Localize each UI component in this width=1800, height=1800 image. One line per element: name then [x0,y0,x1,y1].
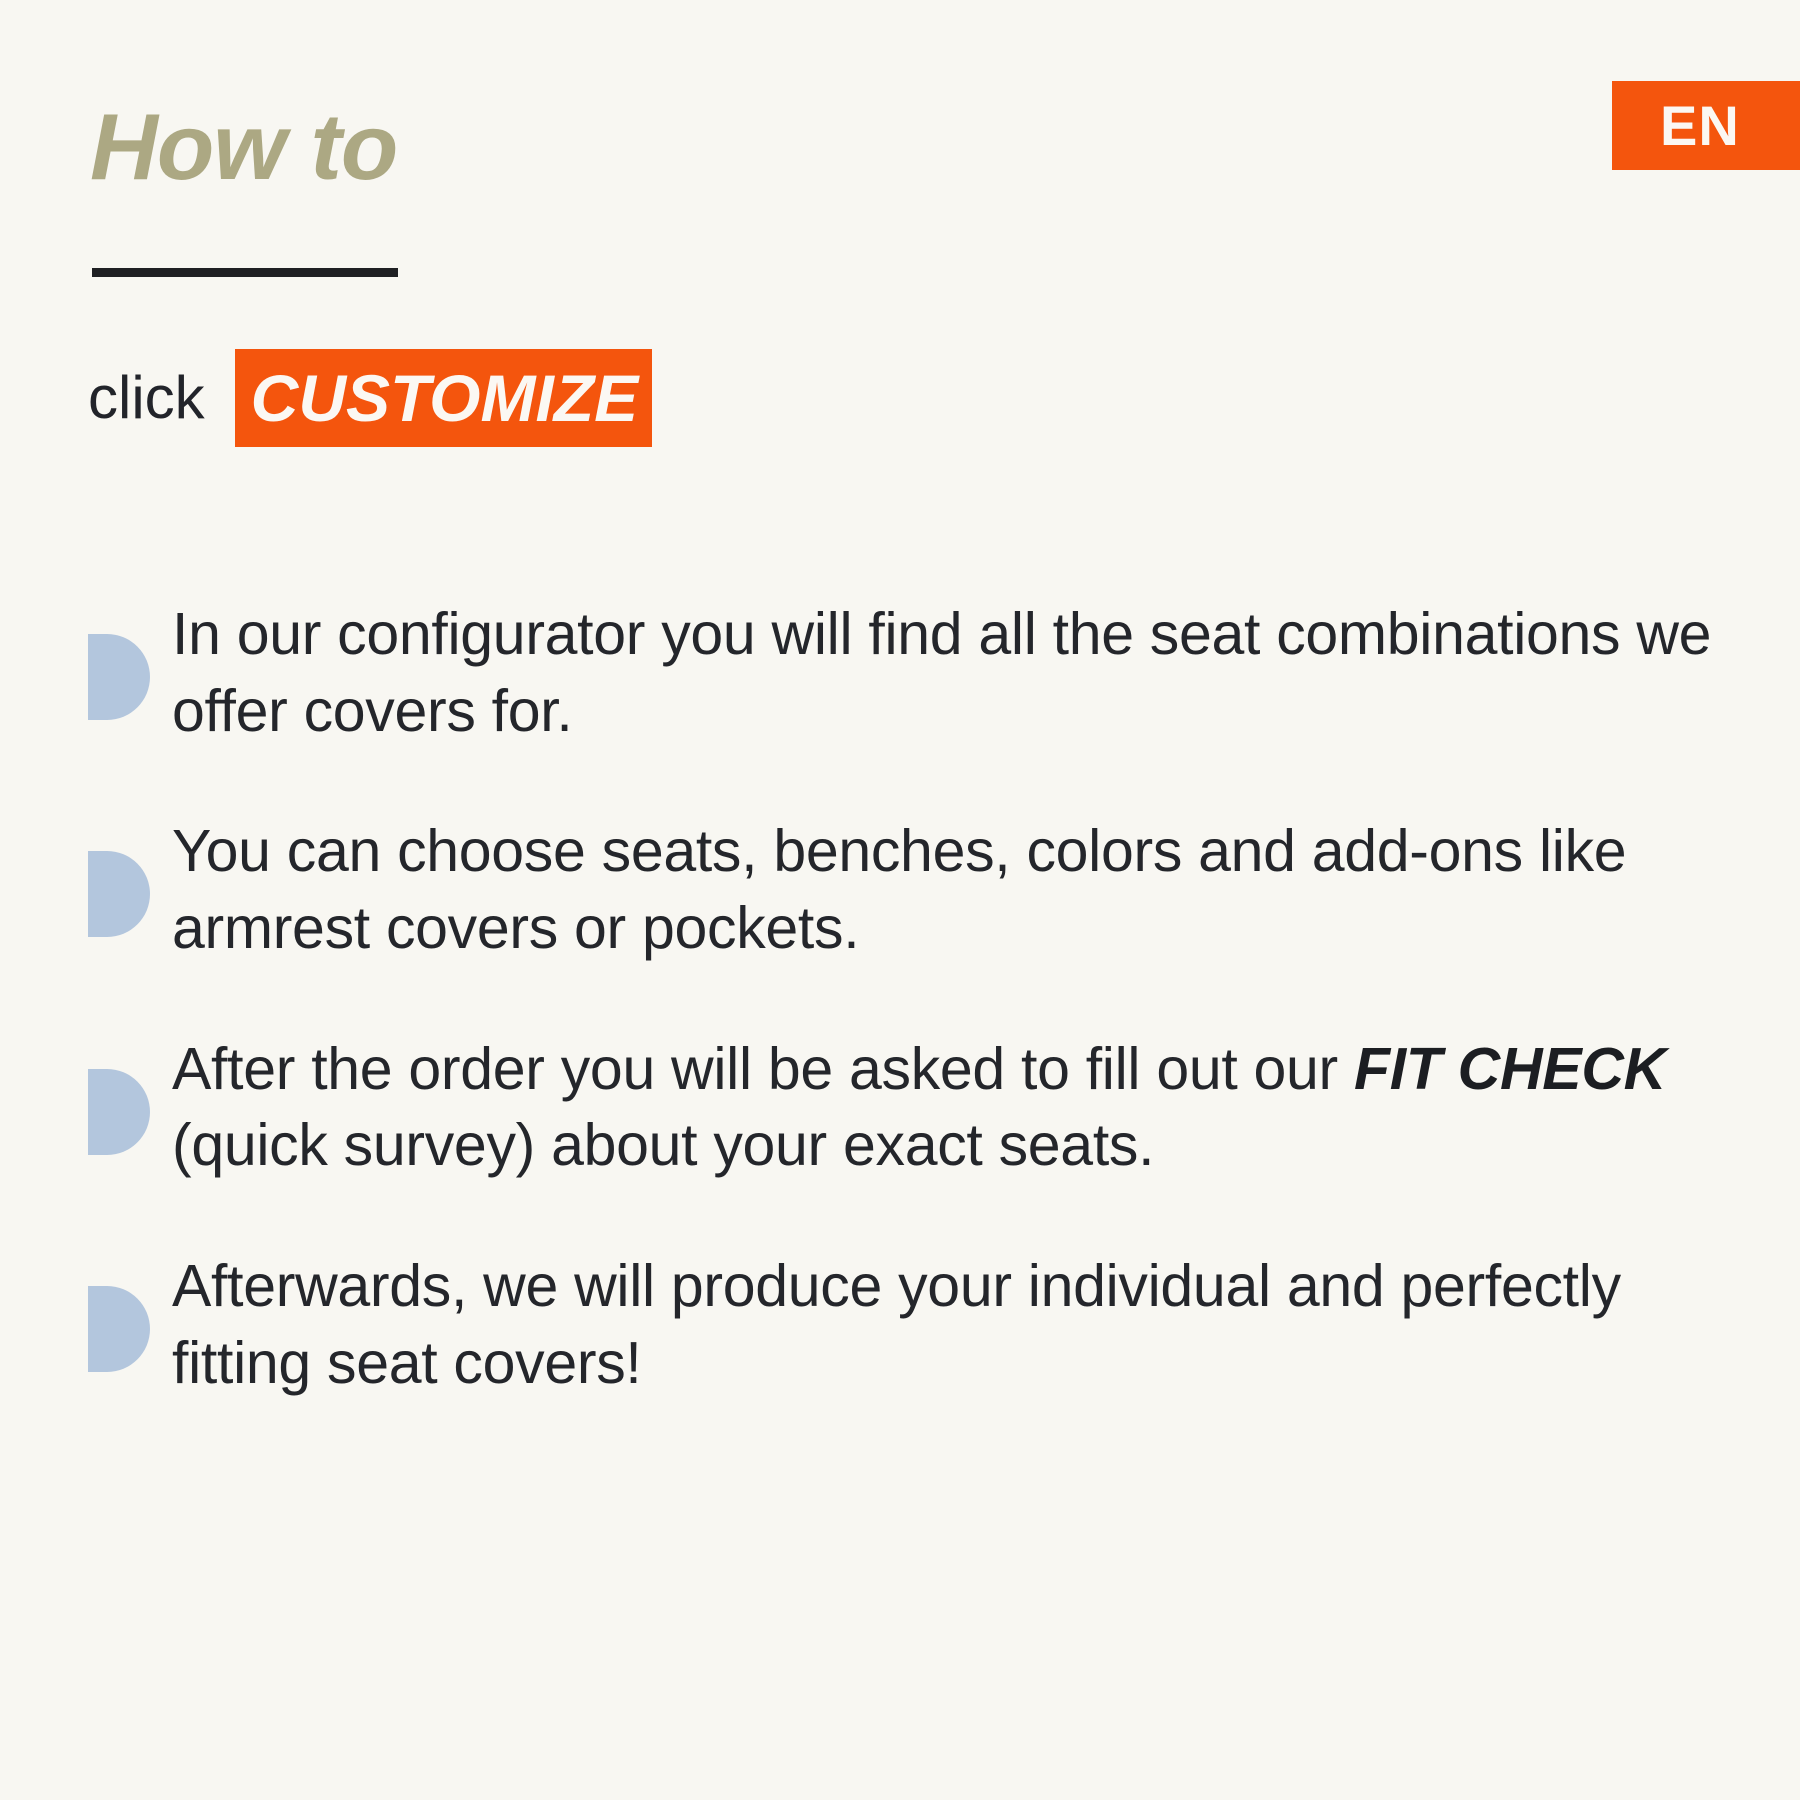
customize-button-highlight[interactable]: CUSTOMIZE [235,349,652,447]
cta-prefix-label: click [88,368,205,428]
list-item-text-before: After the order you will be asked to fil… [172,1036,1354,1102]
list-item-text-before: Afterwards, we will produce your individ… [172,1253,1621,1396]
page-title: How to [90,98,397,197]
list-item-text-before: In our configurator you will find all th… [172,601,1711,744]
half-round-bullet-icon [88,1069,150,1155]
language-badge-label: EN [1660,98,1740,154]
half-round-bullet-icon [88,851,150,937]
list-item-text: You can choose seats, benches, colors an… [172,813,1732,966]
half-round-bullet-icon [88,634,150,720]
list-item-text: Afterwards, we will produce your individ… [172,1248,1732,1401]
list-item-text: In our configurator you will find all th… [172,596,1732,749]
list-item-text: After the order you will be asked to fil… [172,1031,1732,1184]
list-item-text-after: (quick survey) about your exact seats. [172,1112,1154,1178]
language-badge[interactable]: EN [1612,81,1800,170]
page-title-block: How to [90,98,397,197]
list-item-emphasis: FIT CHECK [1354,1036,1666,1102]
list-item-text-before: You can choose seats, benches, colors an… [172,818,1626,961]
call-to-action-line: click CUSTOMIZE [88,352,652,444]
steps-list: In our configurator you will find all th… [88,596,1758,1466]
list-item: After the order you will be asked to fil… [88,1031,1758,1184]
list-item: In our configurator you will find all th… [88,596,1758,749]
list-item: Afterwards, we will produce your individ… [88,1248,1758,1401]
list-item: You can choose seats, benches, colors an… [88,813,1758,966]
title-underline-rule [92,268,398,277]
half-round-bullet-icon [88,1286,150,1372]
howto-card: EN How to click CUSTOMIZE In our configu… [0,0,1800,1800]
